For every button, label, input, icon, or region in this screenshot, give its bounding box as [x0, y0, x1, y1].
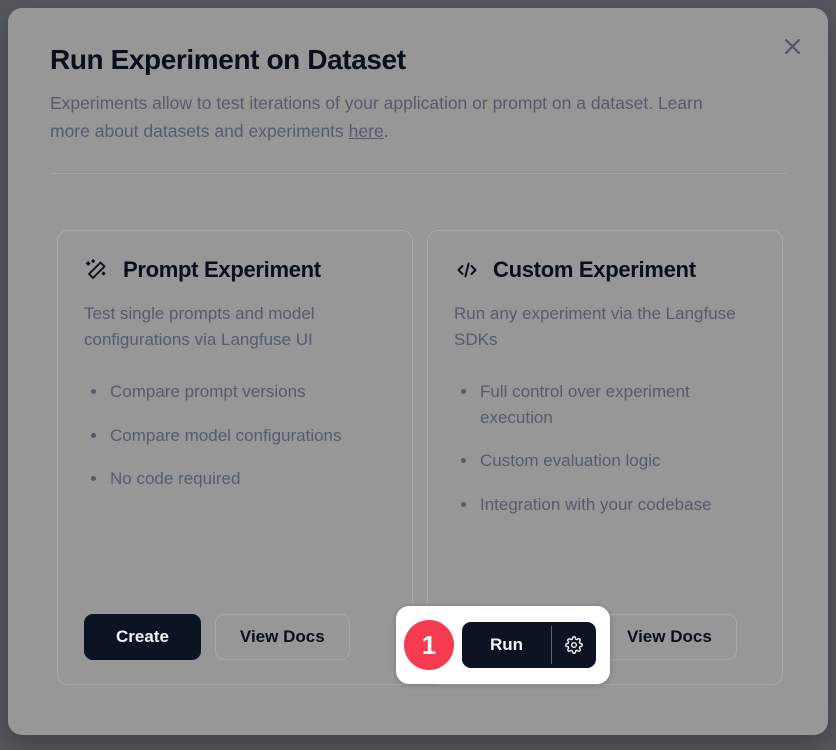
step-number-badge: 1	[404, 620, 454, 670]
close-icon[interactable]	[778, 32, 806, 60]
list-item: Custom evaluation logic	[454, 448, 756, 474]
code-brackets-icon	[454, 257, 480, 283]
card-title: Custom Experiment	[493, 257, 696, 283]
highlight-callout: Run 1	[396, 606, 610, 684]
card-feature-list: Full control over experiment execution C…	[454, 379, 756, 604]
view-docs-button-prompt[interactable]: View Docs	[215, 614, 350, 660]
run-experiment-dialog: Run Experiment on Dataset Experiments al…	[8, 8, 828, 735]
card-header: Prompt Experiment	[84, 257, 386, 283]
card-header: Custom Experiment	[454, 257, 756, 283]
list-item: Compare model configurations	[84, 423, 386, 449]
learn-more-link[interactable]: here	[349, 121, 384, 141]
card-actions: Create View Docs	[84, 614, 386, 660]
card-title: Prompt Experiment	[123, 257, 321, 283]
list-item: Full control over experiment execution	[454, 379, 756, 430]
modal-overlay: Run Experiment on Dataset Experiments al…	[0, 0, 836, 750]
create-button[interactable]: Create	[84, 614, 201, 660]
list-item: Integration with your codebase	[454, 492, 756, 518]
page-title: Run Experiment on Dataset	[50, 44, 786, 76]
card-description: Run any experiment via the Langfuse SDKs	[454, 301, 756, 353]
run-button[interactable]: Run	[462, 622, 551, 668]
gear-icon[interactable]	[552, 622, 596, 668]
description-text-2: .	[384, 121, 389, 141]
dialog-description: Experiments allow to test iterations of …	[50, 90, 740, 145]
card-prompt-experiment[interactable]: Prompt Experiment Test single prompts an…	[57, 230, 413, 685]
card-description: Test single prompts and model configurat…	[84, 301, 386, 353]
header-divider	[50, 173, 786, 174]
list-item: No code required	[84, 466, 386, 492]
list-item: Compare prompt versions	[84, 379, 386, 405]
run-button-group[interactable]: Run	[462, 622, 596, 668]
magic-wand-icon	[84, 257, 110, 283]
dialog-header: Run Experiment on Dataset Experiments al…	[8, 8, 828, 174]
view-docs-button-custom[interactable]: View Docs	[602, 614, 737, 660]
card-feature-list: Compare prompt versions Compare model co…	[84, 379, 386, 604]
